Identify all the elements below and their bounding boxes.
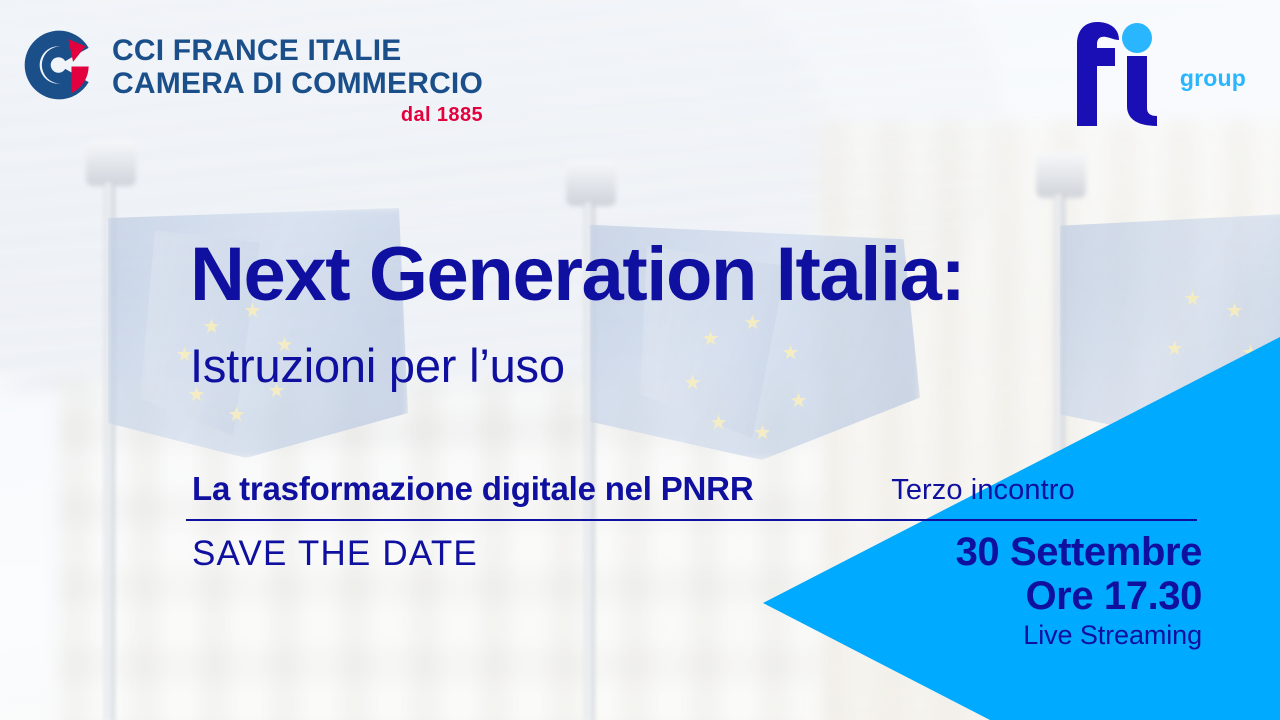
fi-group-label: group bbox=[1180, 65, 1246, 126]
fi-wordmark-icon bbox=[1075, 22, 1171, 126]
cci-line-1: CCI FRANCE ITALIE bbox=[112, 34, 483, 67]
event-mode: Live Streaming bbox=[782, 620, 1202, 651]
event-meeting-label: Terzo incontro bbox=[782, 474, 1202, 507]
poster-subheadline: Istruzioni per l’uso bbox=[190, 338, 565, 393]
event-time: Ore 17.30 bbox=[782, 574, 1202, 618]
cci-emblem-icon bbox=[20, 26, 98, 104]
poster-headline: Next Generation Italia: bbox=[190, 236, 964, 314]
event-date: 30 Settembre bbox=[782, 530, 1202, 574]
cci-wordmark: CCI FRANCE ITALIE CAMERA DI COMMERCIO da… bbox=[112, 26, 483, 127]
event-poster: CCI FRANCE ITALIE CAMERA DI COMMERCIO da… bbox=[0, 0, 1280, 720]
cci-since-label: dal 1885 bbox=[112, 104, 483, 127]
poster-topic-line: La trasformazione digitale nel PNRR bbox=[192, 470, 753, 508]
save-the-date-label: SAVE THE DATE bbox=[192, 534, 478, 574]
cci-france-italie-logo: CCI FRANCE ITALIE CAMERA DI COMMERCIO da… bbox=[20, 26, 483, 127]
event-details-panel: Terzo incontro 30 Settembre Ore 17.30 Li… bbox=[782, 474, 1202, 651]
cci-line-2: CAMERA DI COMMERCIO bbox=[112, 67, 483, 100]
fi-group-logo: group bbox=[1075, 22, 1246, 126]
